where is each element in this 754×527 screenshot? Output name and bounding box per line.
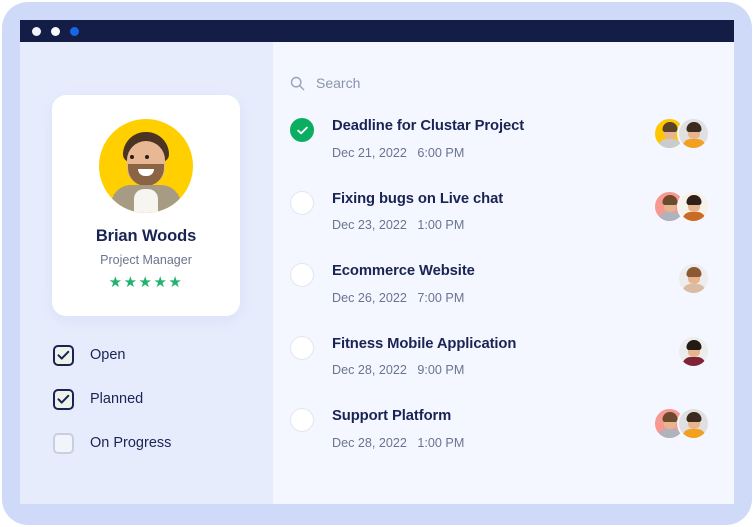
task-text-block: Fitness Mobile ApplicationDec 28, 2022 9… — [332, 333, 677, 378]
task-assignee-avatars — [653, 117, 710, 150]
app-root: Brian Woods Project Manager ★★★★★ Open — [0, 0, 754, 527]
avatar-body-icon — [682, 212, 705, 221]
avatar-eye-right-icon — [145, 155, 149, 159]
search-bar[interactable]: Search — [290, 72, 360, 94]
task-assignee-avatars — [653, 190, 710, 223]
profile-star-rating: ★★★★★ — [109, 275, 184, 290]
task-datetime: Dec 23, 2022 1:00 PM — [332, 218, 653, 232]
task-title: Fitness Mobile Application — [332, 333, 677, 352]
task-datetime: Dec 26, 2022 7:00 PM — [332, 291, 677, 305]
checkbox-open[interactable] — [53, 345, 74, 366]
task-text-block: Support PlatformDec 28, 2022 1:00 PM — [332, 405, 653, 450]
avatar-hair-icon — [686, 122, 701, 132]
empty-circle-icon[interactable] — [290, 191, 314, 215]
window-dot-blue-icon[interactable] — [70, 27, 79, 36]
empty-circle-icon[interactable] — [290, 263, 314, 287]
profile-card: Brian Woods Project Manager ★★★★★ — [52, 95, 240, 316]
assignee-avatar[interactable] — [677, 262, 710, 295]
assignee-avatar[interactable] — [677, 117, 710, 150]
avatar-body-icon — [682, 429, 705, 438]
filter-label-open: Open — [90, 347, 125, 363]
filter-item-open[interactable]: Open — [53, 344, 253, 366]
window-dot-grey-1-icon[interactable] — [32, 27, 41, 36]
window-titlebar — [20, 20, 734, 42]
avatar-hair-icon — [686, 412, 701, 422]
checkbox-on-progress[interactable] — [53, 433, 74, 454]
avatar-hair-icon — [662, 195, 677, 205]
avatar-hair-icon — [686, 195, 701, 205]
filter-label-planned: Planned — [90, 391, 143, 407]
filter-item-planned[interactable]: Planned — [53, 388, 253, 410]
sidebar: Brian Woods Project Manager ★★★★★ Open — [20, 42, 273, 504]
task-title: Fixing bugs on Live chat — [332, 188, 653, 207]
task-row[interactable]: Fixing bugs on Live chatDec 23, 2022 1:0… — [273, 188, 734, 261]
task-datetime: Dec 21, 2022 6:00 PM — [332, 146, 653, 160]
search-icon — [290, 76, 305, 91]
filter-list: Open Planned On Progress — [53, 344, 253, 476]
task-assignee-avatars — [677, 262, 710, 295]
empty-circle-icon[interactable] — [290, 336, 314, 360]
checkbox-planned[interactable] — [53, 389, 74, 410]
avatar-hair-icon — [686, 340, 701, 350]
avatar-body-icon — [682, 284, 705, 293]
check-circle-icon[interactable] — [290, 118, 314, 142]
task-title: Support Platform — [332, 405, 653, 424]
assignee-avatar[interactable] — [677, 335, 710, 368]
task-list: Deadline for Clustar ProjectDec 21, 2022… — [273, 115, 734, 478]
task-text-block: Deadline for Clustar ProjectDec 21, 2022… — [332, 115, 653, 160]
task-row[interactable]: Deadline for Clustar ProjectDec 21, 2022… — [273, 115, 734, 188]
task-row[interactable]: Ecommerce WebsiteDec 26, 2022 7:00 PM — [273, 260, 734, 333]
assignee-avatar[interactable] — [677, 407, 710, 440]
task-title: Deadline for Clustar Project — [332, 115, 653, 134]
profile-role: Project Manager — [100, 253, 192, 267]
task-assignee-avatars — [677, 335, 710, 368]
avatar-eye-left-icon — [130, 155, 134, 159]
task-row[interactable]: Fitness Mobile ApplicationDec 28, 2022 9… — [273, 333, 734, 406]
main-panel: Search Deadline for Clustar ProjectDec 2… — [273, 42, 734, 504]
task-datetime: Dec 28, 2022 1:00 PM — [332, 436, 653, 450]
avatar-hair-icon — [686, 267, 701, 277]
task-title: Ecommerce Website — [332, 260, 677, 279]
avatar-body-icon — [682, 357, 705, 366]
task-row[interactable]: Support PlatformDec 28, 2022 1:00 PM — [273, 405, 734, 478]
filter-item-on-progress[interactable]: On Progress — [53, 432, 253, 454]
task-assignee-avatars — [653, 407, 710, 440]
assignee-avatar[interactable] — [677, 190, 710, 223]
window-body: Brian Woods Project Manager ★★★★★ Open — [20, 42, 734, 504]
avatar-hair-icon — [662, 122, 677, 132]
avatar-body-icon — [682, 139, 705, 148]
task-text-block: Fixing bugs on Live chatDec 23, 2022 1:0… — [332, 188, 653, 233]
filter-label-on-progress: On Progress — [90, 435, 171, 451]
task-text-block: Ecommerce WebsiteDec 26, 2022 7:00 PM — [332, 260, 677, 305]
window-dot-grey-2-icon[interactable] — [51, 27, 60, 36]
profile-avatar — [99, 119, 193, 213]
search-input[interactable]: Search — [316, 75, 360, 91]
empty-circle-icon[interactable] — [290, 408, 314, 432]
app-window: Brian Woods Project Manager ★★★★★ Open — [20, 20, 734, 504]
avatar-shirt-icon — [134, 189, 158, 213]
task-datetime: Dec 28, 2022 9:00 PM — [332, 363, 677, 377]
avatar-hair-icon — [662, 412, 677, 422]
profile-name: Brian Woods — [96, 227, 196, 246]
